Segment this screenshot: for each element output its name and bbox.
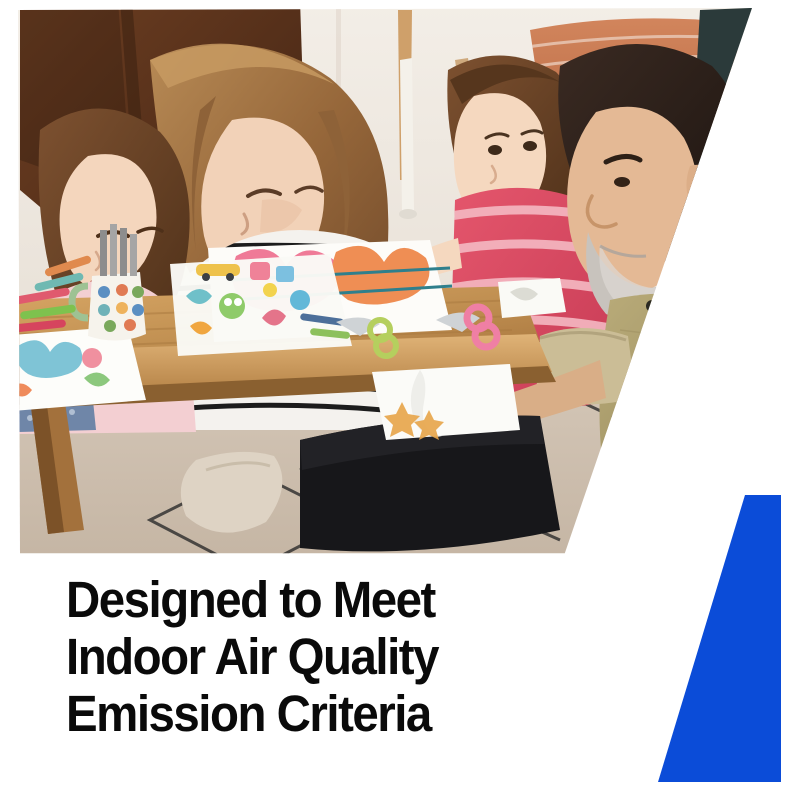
blue-wedge-polygon: [658, 495, 781, 782]
blue-wedge-svg: [640, 488, 790, 788]
page-title: Designed to Meet Indoor Air Quality Emis…: [66, 571, 586, 742]
poster-canvas: Designed to Meet Indoor Air Quality Emis…: [0, 0, 800, 800]
headline-line-2: Indoor Air Quality: [66, 628, 550, 685]
headline-line-1: Designed to Meet: [66, 571, 550, 628]
headline-line-3: Emission Criteria: [66, 685, 550, 742]
blue-accent-shape: [640, 488, 790, 788]
